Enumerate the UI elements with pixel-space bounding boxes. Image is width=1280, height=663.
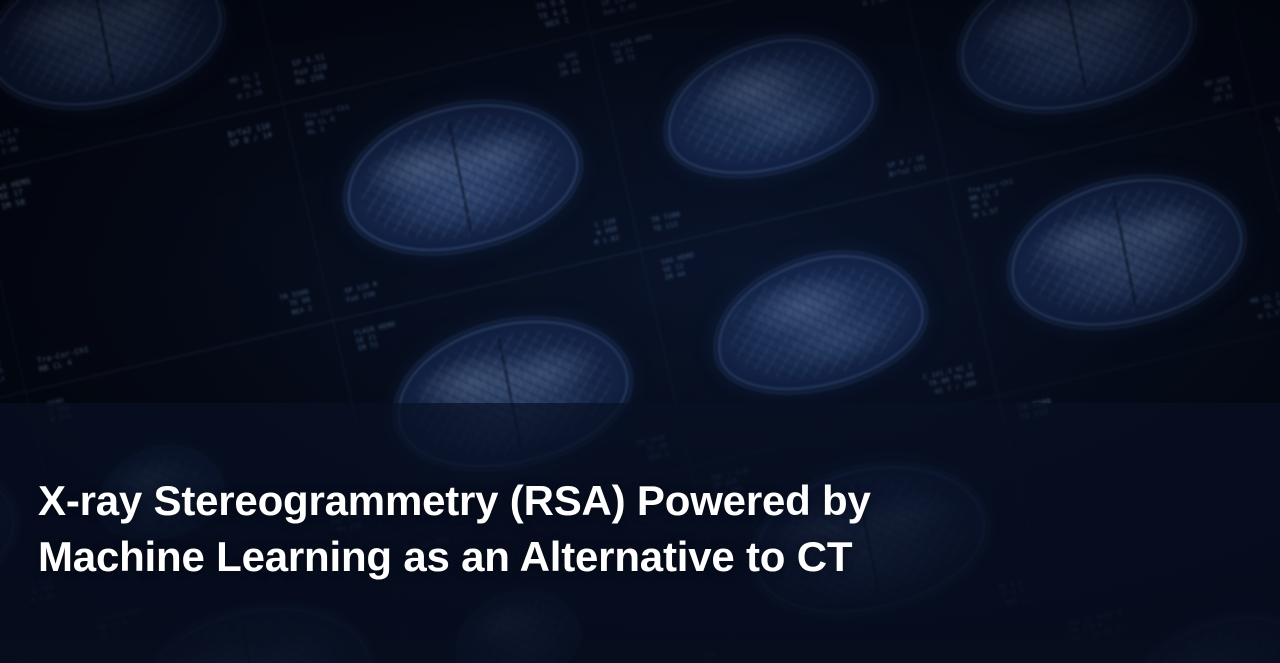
brain-scan-image	[0, 443, 25, 626]
dicom-annotation: MR CL 2 HL 5 M 1.57	[0, 359, 7, 390]
dicom-annotation: Sum-11 INFO 0 TR 570 R IM C 13 FB 5	[1275, 103, 1280, 145]
dicom-annotation: TR 9.8 TE 4.6 NEX 1	[536, 0, 571, 31]
page-title-line-1: X-ray Stereogrammetry (RSA) Powered by	[38, 473, 1220, 529]
title-block: X-ray Stereogrammetry (RSA) Powered by M…	[38, 473, 1220, 586]
brain-scan-image	[705, 240, 932, 405]
dicom-annotation: Tra-Cor-Ch1 MR CL 6 HL 3	[304, 103, 355, 138]
dicom-annotation: BP HEM SE 9 IM 31	[1204, 75, 1234, 105]
brain-scan-image	[949, 0, 1204, 127]
brain-scan-image	[447, 581, 588, 663]
dicom-annotation: Str-Sum-21 MR CL 1 STHV 1 AN 100	[0, 0, 2, 5]
dicom-annotation: C 141.3 H1 2 TR-88 TR-48 HI 7 / 160	[923, 362, 978, 398]
dicom-annotation: Tra-Cor-Ch1 MR CL 6 HL 3	[97, 606, 148, 641]
dicom-annotation: MR CL 3 HL 8 M 2.10	[229, 72, 263, 103]
dicom-annotation: C 256 W 512 TR 4500	[686, 650, 720, 663]
page-title-line-2: Machine Learning as an Alternative to CT	[38, 529, 1220, 585]
dicom-annotation: Tra-Cor-Ch1 MR CL 2 HL 5 M 1.57	[968, 177, 1021, 220]
brain-scan-image	[999, 160, 1254, 343]
dicom-annotation: TR 5500 TE 98 NEX 2	[636, 433, 670, 464]
dicom-annotation: MR CL 8 HL 6 M 2.04	[855, 0, 889, 10]
dicom-annotation: HEMO C 256 W 512	[47, 395, 73, 424]
dicom-annotation: SAG HEMO SE 12 IM 44	[661, 251, 699, 283]
brain-scan-image	[1112, 602, 1280, 663]
dicom-annotation: TR 5500 TE 98 NEX 2	[279, 288, 313, 319]
dicom-annotation: BrTa2 110 SP 8 / 14	[227, 121, 274, 149]
dicom-annotation: SP 118 R FoV 230	[344, 280, 381, 304]
brain-scan-image	[0, 0, 233, 123]
dicom-annotation: FLAIR HEMO SE 21 IM 72	[611, 33, 658, 67]
dicom-annotation: Sum-11 INFO 0 TR 570 R IM C 13 FB 5	[1067, 608, 1126, 645]
dicom-annotation: FOV 173 256 SP 150 60Hz Sec 2.45	[599, 0, 650, 17]
dicom-annotation: SAG SE 19 IM 65	[556, 50, 582, 79]
brain-scan-image	[385, 302, 640, 485]
dicom-annotation: MR CL 2 HL 5 M 1.57	[1250, 291, 1280, 322]
dicom-annotation: TR 7200 TE 112	[651, 211, 683, 234]
brain-scan-image	[655, 24, 882, 189]
dicom-annotation: C 220 W 480 M 1.82	[590, 217, 620, 247]
dicom-annotation: FLAIR HEMO SE 21 IM 72	[354, 320, 401, 354]
dicom-annotation: TR 7200 TE 112	[1018, 396, 1055, 422]
dicom-annotation: SP 9 / 16 BrTa2 131	[887, 154, 928, 179]
hero-banner: Tra-Cor-Ch1 MR CL 2 HL 5 M 1.57 AX HEMO …	[0, 0, 1280, 663]
brain-scan-image	[128, 589, 383, 663]
dicom-annotation: Tra-Cor-Ch1 MR CL 4	[37, 345, 93, 376]
dicom-annotation: SP 4.51 FoV 220 Mx 256	[291, 52, 330, 88]
dicom-annotation: SP 123 R TR 7.85 TE 2.46	[0, 127, 24, 159]
brain-scan-image	[335, 85, 590, 268]
dicom-annotation: AX HEMO SE 17 IM 58	[0, 176, 36, 212]
